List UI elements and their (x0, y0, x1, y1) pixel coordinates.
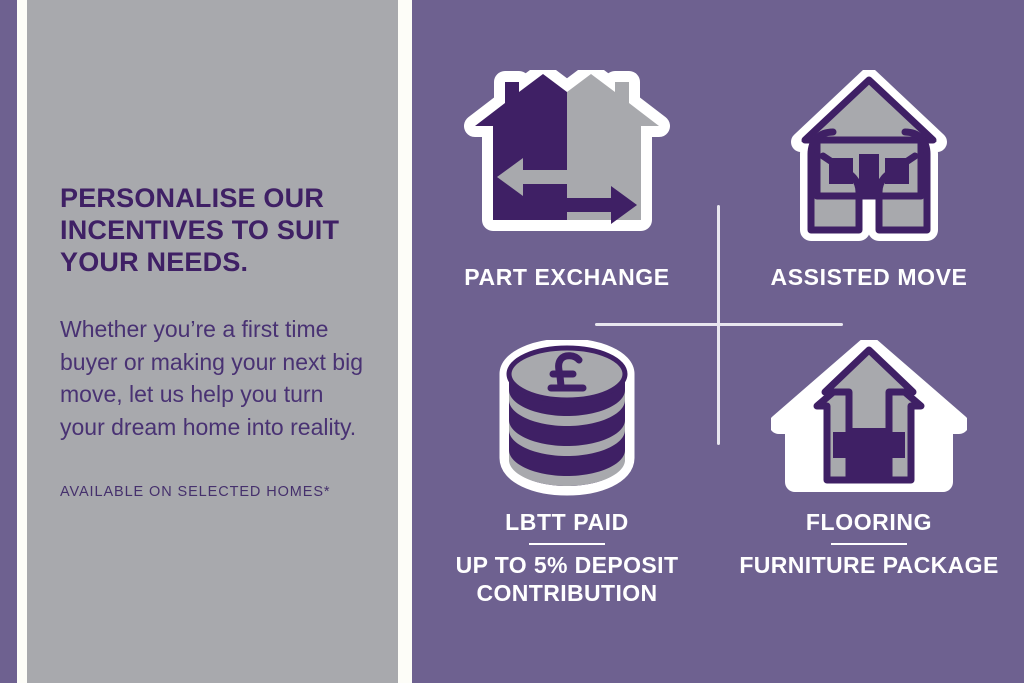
promotional-banner: PERSONALISE OUR INCENTIVES TO SUIT YOUR … (0, 0, 1024, 683)
hands-holding-house-icon (771, 70, 967, 260)
label-separator-rule (831, 543, 907, 545)
incentives-panel: PART EXCHANGE (412, 0, 1024, 683)
incentive-assisted-move[interactable]: ASSISTED MOVE (724, 70, 1014, 291)
incentive-part-exchange[interactable]: PART EXCHANGE (422, 70, 712, 291)
grey-content-card: PERSONALISE OUR INCENTIVES TO SUIT YOUR … (27, 0, 398, 683)
incentive-label: PART EXCHANGE (464, 264, 669, 291)
incentive-lbtt-paid[interactable]: LBTT PAID UP TO 5% DEPOSIT CONTRIBUTION (422, 340, 712, 607)
incentive-label: LBTT PAID (422, 509, 712, 536)
incentive-label: FLOORING (739, 509, 998, 536)
disclaimer-footnote: AVAILABLE ON SELECTED HOMES* (60, 484, 370, 500)
incentive-sublabel: UP TO 5% DEPOSIT CONTRIBUTION (422, 552, 712, 607)
incentive-flooring-furniture[interactable]: FLOORING FURNITURE PACKAGE (724, 340, 1014, 580)
body-copy: Whether you’re a first time buyer or mak… (60, 313, 370, 444)
panel-white-gap (398, 0, 412, 683)
label-separator-rule (529, 543, 605, 545)
incentive-label: ASSISTED MOVE (771, 264, 968, 291)
left-white-border (17, 0, 27, 683)
left-text-panel: PERSONALISE OUR INCENTIVES TO SUIT YOUR … (0, 0, 412, 683)
page-title: PERSONALISE OUR INCENTIVES TO SUIT YOUR … (60, 183, 370, 279)
three-houses-up-arrow-icon (771, 340, 967, 505)
two-houses-exchange-arrows-icon (463, 70, 671, 260)
left-purple-border (0, 0, 17, 683)
horizontal-divider (595, 323, 843, 326)
incentive-label-block: PART EXCHANGE (464, 264, 669, 291)
incentive-label-block: FLOORING FURNITURE PACKAGE (739, 509, 998, 580)
stacked-pound-coins-icon (491, 340, 643, 505)
incentive-label-block: LBTT PAID UP TO 5% DEPOSIT CONTRIBUTION (422, 509, 712, 607)
incentive-label-block: ASSISTED MOVE (771, 264, 968, 291)
incentive-sublabel: FURNITURE PACKAGE (739, 552, 998, 580)
